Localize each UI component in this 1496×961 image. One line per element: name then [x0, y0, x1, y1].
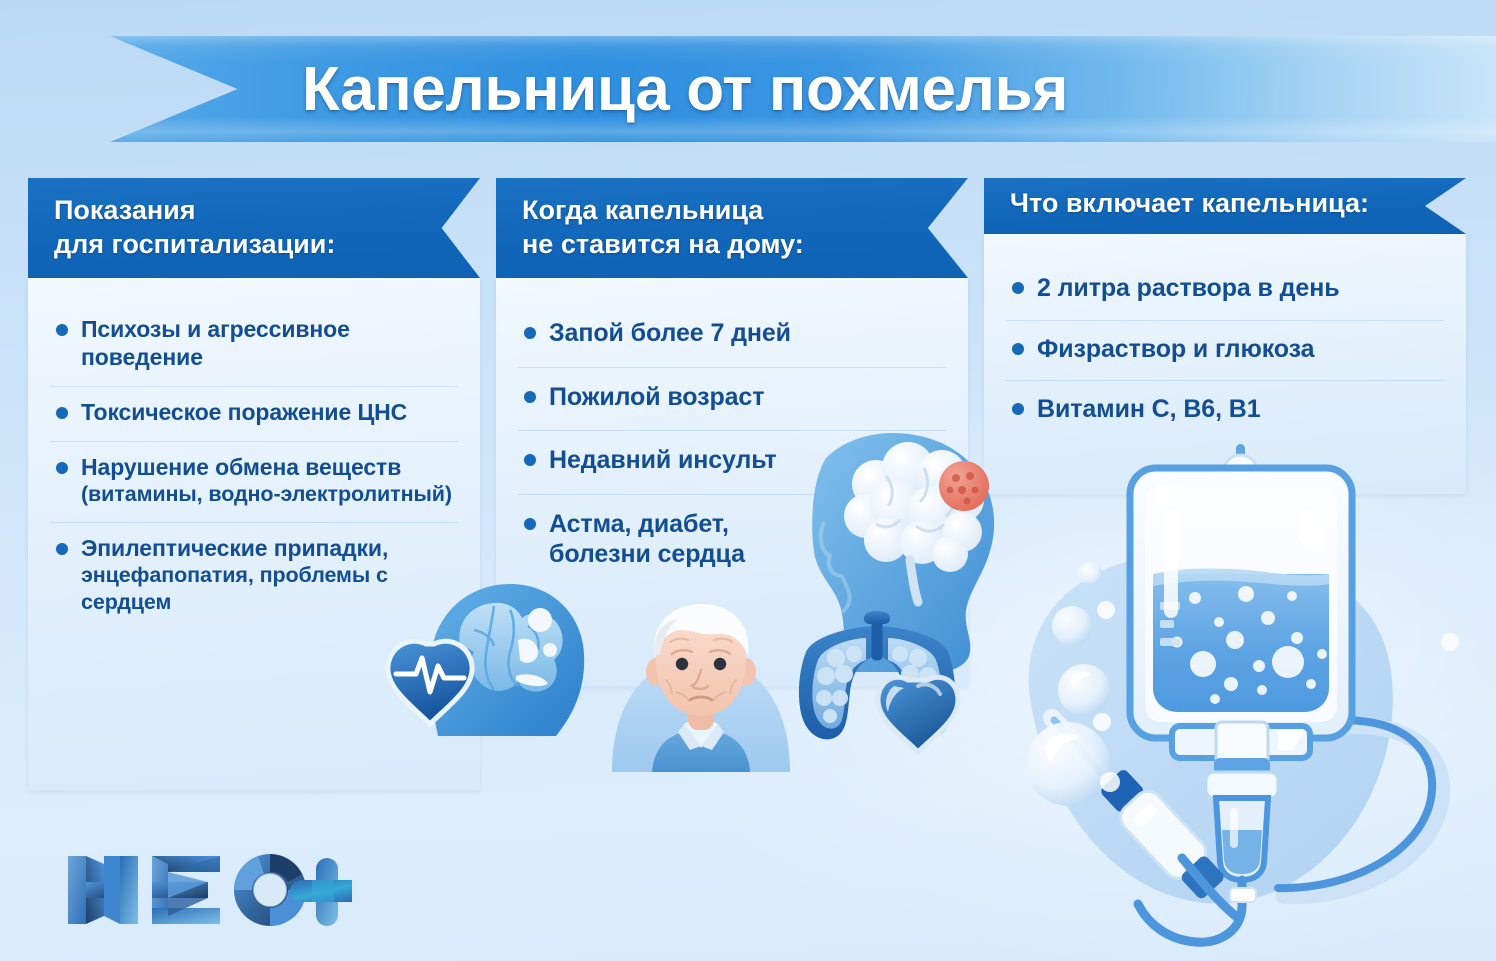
list-item-label: Физраствор и глюкоза: [1037, 334, 1314, 365]
list-item: Недавний инсульт: [518, 431, 946, 495]
bullet-dot-icon: [56, 407, 68, 419]
list-item-main: Нарушение обмена веществ: [81, 454, 401, 480]
column-header-line-2: для госпитализации:: [54, 228, 458, 262]
column-contraindications: Когда капельница не ставится на дому: За…: [496, 178, 968, 686]
list-item-label: Недавний инсульт: [549, 445, 777, 476]
bullet-dot-icon: [524, 391, 536, 403]
column-header-line-1: Когда капельница: [522, 194, 946, 228]
bullet-dot-icon: [56, 324, 68, 336]
list-item-sub: (витамины, водно-электролитный): [81, 481, 452, 507]
column-header-line-2: не ставится на дому:: [522, 228, 946, 262]
logo-plus-icon: [290, 858, 352, 926]
bullet-dot-icon: [524, 327, 536, 339]
bullet-list-contents: 2 литра раствора в день Физраствор и глю…: [1006, 260, 1444, 441]
list-item-label: Пожилой возраст: [549, 382, 764, 413]
logo-letter-e: [152, 856, 220, 924]
list-item: Астма, диабет, болезни сердца: [518, 495, 946, 588]
list-item: 2 литра раствора в день: [1006, 260, 1444, 321]
list-item: Физраствор и глюкоза: [1006, 321, 1444, 382]
list-item-label: Витамин С, В6, В1: [1037, 394, 1261, 425]
column-indications: Показания для госпитализации: Психозы и …: [28, 178, 480, 790]
bullet-list-indications: Психозы и агрессивное поведение Токсичес…: [50, 304, 458, 630]
bullet-dot-icon: [1012, 403, 1024, 415]
bullet-dot-icon: [1012, 343, 1024, 355]
list-item-label: Запой более 7 дней: [549, 318, 791, 349]
iv-drip-bag-illustration: [1006, 426, 1492, 956]
list-item-label: Психозы и агрессивное поведение: [81, 315, 452, 371]
list-item: Витамин С, В6, В1: [1006, 381, 1444, 441]
bullet-dot-icon: [56, 462, 68, 474]
column-header-contents: Что включает капельница:: [984, 178, 1466, 234]
list-item-label: 2 литра раствора в день: [1037, 273, 1339, 304]
logo-neo-plus: [62, 842, 352, 938]
page-title: Капельница от похмелья: [0, 36, 1370, 142]
list-item: Эпилептические припадки, энцефапопатия, …: [50, 523, 458, 629]
bullet-list-contraindications: Запой более 7 дней Пожилой возраст Недав…: [518, 304, 946, 588]
list-item-label: Токсическое поражение ЦНС: [81, 398, 407, 426]
list-item: Нарушение обмена веществ (витамины, водн…: [50, 442, 458, 523]
list-item: Пожилой возраст: [518, 368, 946, 432]
title-banner: Капельница от похмелья: [0, 36, 1496, 142]
list-item-sub: болезни сердца: [549, 539, 745, 570]
list-item-label: Эпилептические припадки, энцефапопатия, …: [81, 534, 452, 614]
list-item-main: Эпилептические припадки,: [81, 535, 388, 561]
list-item: Токсическое поражение ЦНС: [50, 387, 458, 442]
column-header-line-1: Что включает капельница:: [1010, 187, 1369, 221]
list-item: Запой более 7 дней: [518, 304, 946, 368]
card-indications: Психозы и агрессивное поведение Токсичес…: [28, 278, 480, 790]
column-header-line-1: Показания: [54, 194, 458, 228]
bullet-dot-icon: [524, 454, 536, 466]
logo-letter-n: [68, 856, 138, 924]
column-header-indications: Показания для госпитализации:: [28, 178, 480, 278]
column-contents: Что включает капельница: 2 литра раствор…: [984, 178, 1466, 494]
bullet-dot-icon: [56, 543, 68, 555]
list-item-main: Астма, диабет,: [549, 510, 729, 538]
bullet-dot-icon: [524, 518, 536, 530]
card-contents: 2 литра раствора в день Физраствор и глю…: [984, 234, 1466, 494]
list-item: Психозы и агрессивное поведение: [50, 304, 458, 387]
list-item-sub: энцефапопатия, проблемы с сердцем: [81, 562, 452, 614]
bullet-dot-icon: [1012, 282, 1024, 294]
card-contraindications: Запой более 7 дней Пожилой возраст Недав…: [496, 278, 968, 686]
column-header-contraindications: Когда капельница не ставится на дому:: [496, 178, 968, 278]
list-item-label: Астма, диабет, болезни сердца: [549, 509, 745, 570]
list-item-label: Нарушение обмена веществ (витамины, водн…: [81, 453, 452, 507]
